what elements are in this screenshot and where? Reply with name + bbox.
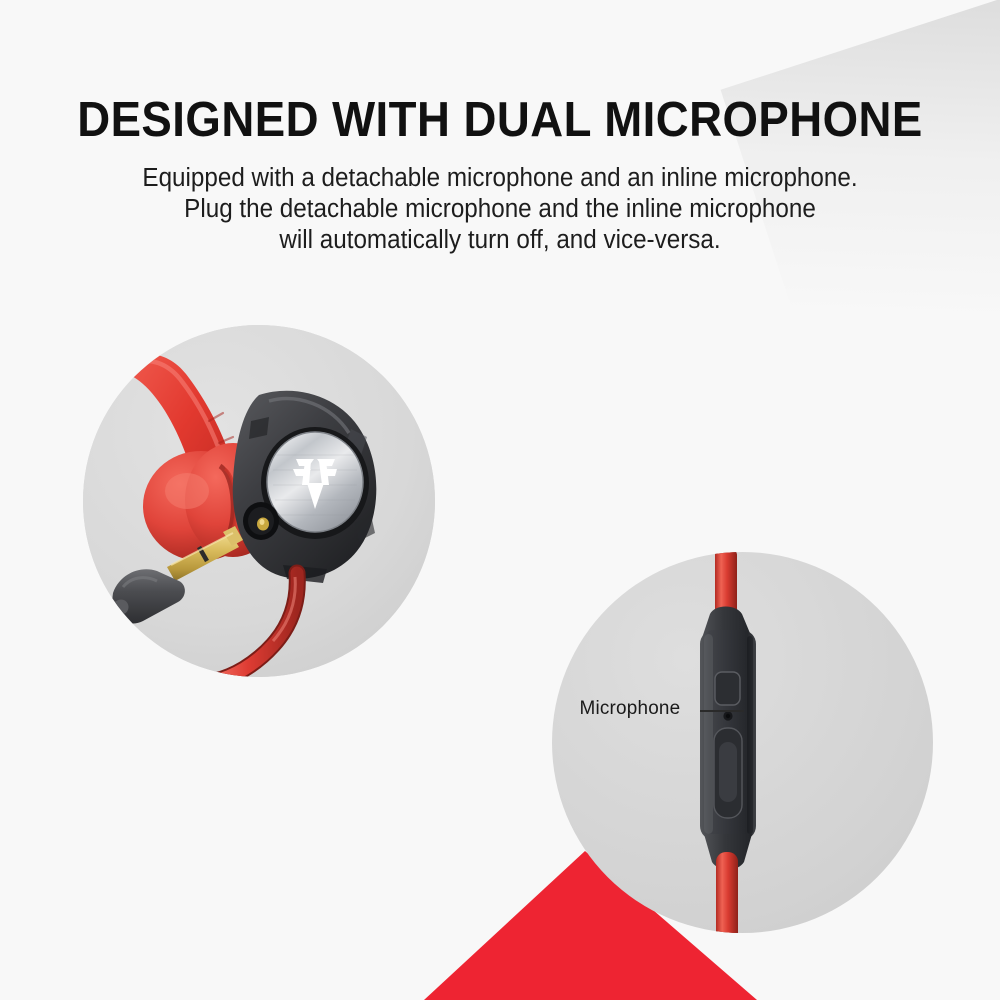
microphone-callout-line — [700, 710, 744, 712]
product-feature-slide: DESIGNED WITH DUAL MICROPHONE Equipped w… — [0, 0, 1000, 1000]
subtitle-line-1: Equipped with a detachable microphone an… — [73, 163, 928, 194]
inline-mic-photo-circle — [552, 552, 933, 933]
subtitle-line-3: will automatically turn off, and vice-ve… — [73, 225, 928, 256]
page-subtitle: Equipped with a detachable microphone an… — [73, 163, 928, 256]
page-title: DESIGNED WITH DUAL MICROPHONE — [35, 92, 965, 148]
subtitle-line-2: Plug the detachable microphone and the i… — [73, 194, 928, 225]
inline-mic-illustration — [552, 552, 933, 933]
microphone-callout-label: Microphone — [580, 697, 681, 720]
earbud-illustration — [83, 325, 435, 677]
detachable-mic-port — [243, 502, 279, 540]
red-cable-bottom — [716, 852, 738, 933]
multifunction-button[interactable] — [715, 672, 740, 705]
earbud-photo-circle — [83, 325, 435, 677]
